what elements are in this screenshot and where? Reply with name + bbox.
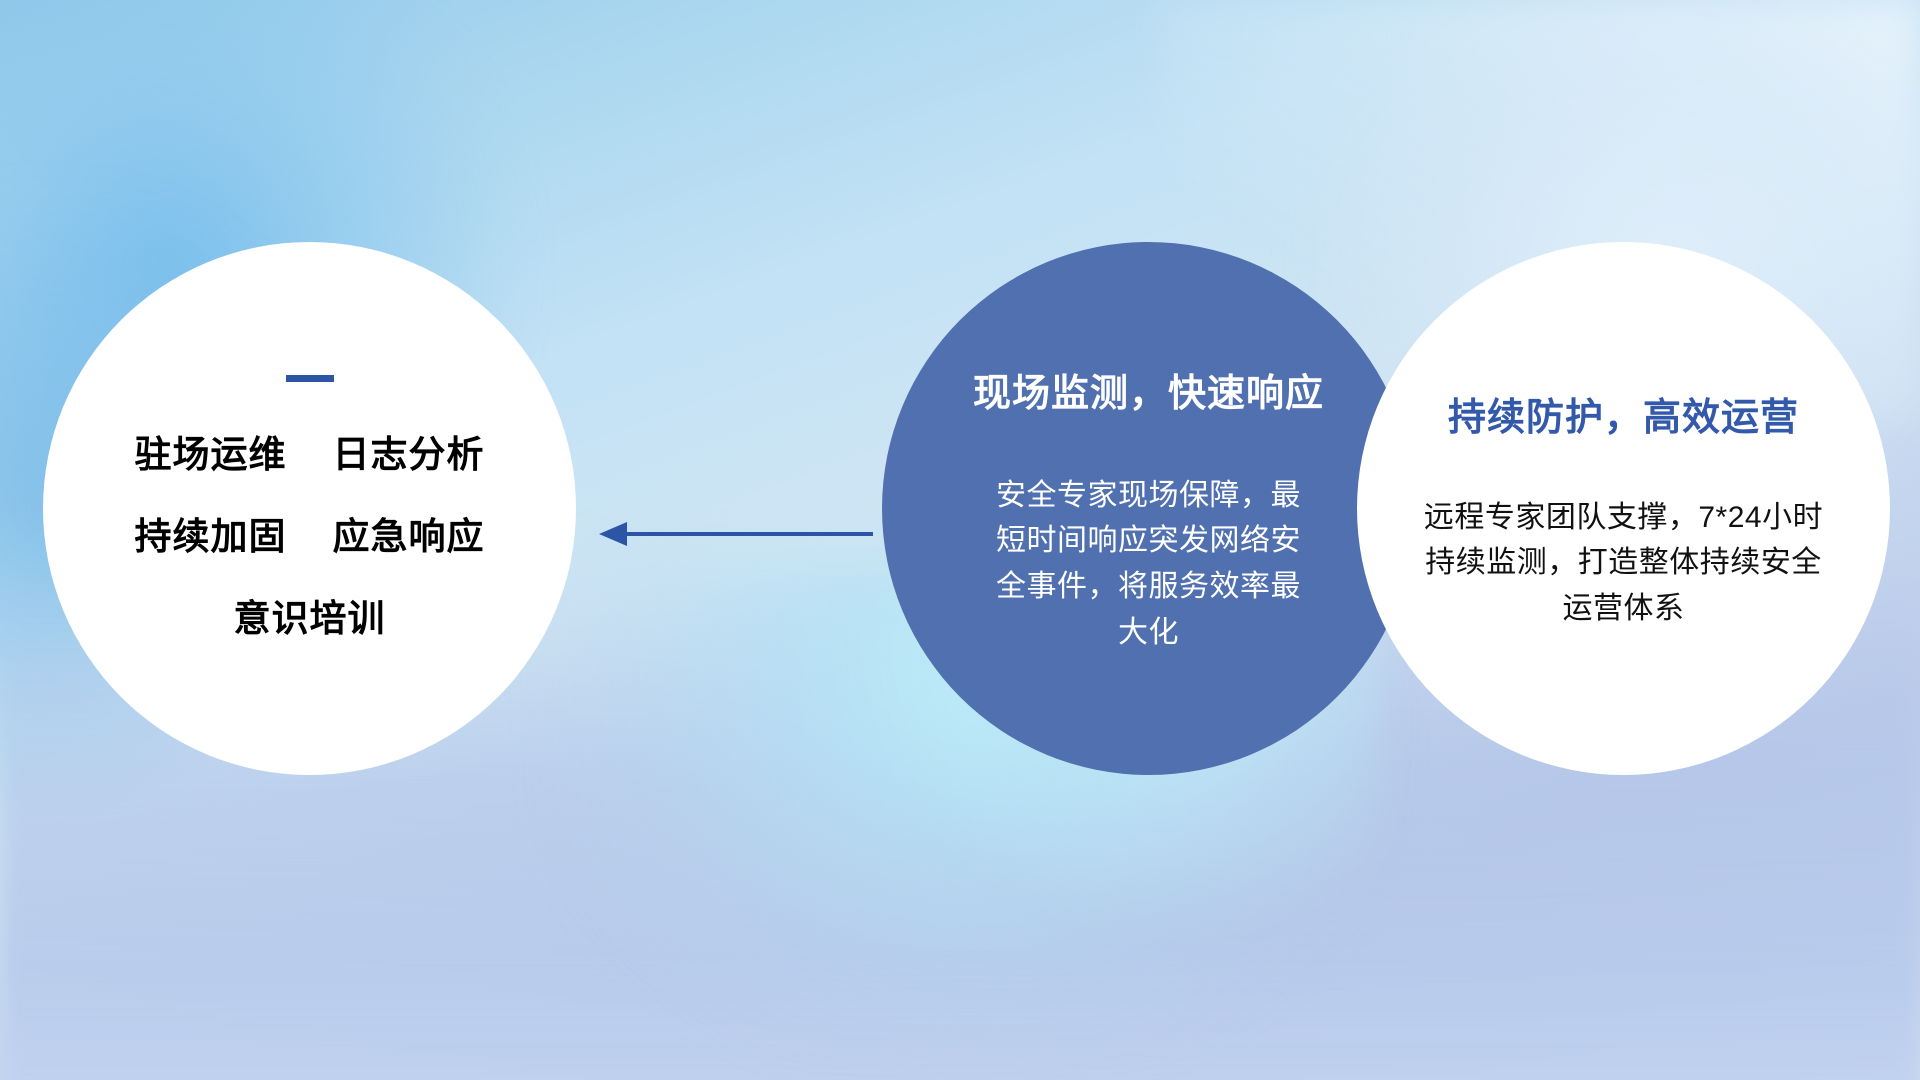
keywords-circle[interactable]: 驻场运维 日志分析 持续加固 应急响应 意识培训 [43, 242, 576, 775]
keyword-item: 应急响应 [333, 506, 485, 560]
continuous-protection-circle[interactable]: 持续防护，高效运营 远程专家团队支撑，7*24小时持续监测，打造整体持续安全运营… [1357, 242, 1890, 775]
keyword-item: 意识培训 [234, 588, 386, 642]
keyword-item: 日志分析 [333, 424, 485, 478]
onsite-monitoring-circle[interactable]: 现场监测，快速响应 安全专家现场保障，最短时间响应突发网络安全事件，将服务效率最… [882, 242, 1415, 775]
keyword-item: 持续加固 [135, 506, 287, 560]
keyword-row: 意识培训 [234, 588, 386, 642]
keyword-row: 持续加固 应急响应 [135, 506, 485, 560]
continuous-protection-title: 持续防护，高效运营 [1448, 386, 1799, 441]
keyword-row: 驻场运维 日志分析 [135, 424, 485, 478]
keyword-grid: 驻场运维 日志分析 持续加固 应急响应 意识培训 [135, 424, 485, 642]
keyword-item: 驻场运维 [135, 424, 287, 478]
continuous-protection-body: 远程专家团队支撑，7*24小时持续监测，打造整体持续安全运营体系 [1424, 495, 1824, 632]
onsite-monitoring-title: 现场监测，快速响应 [973, 362, 1324, 417]
onsite-monitoring-body: 安全专家现场保障，最短时间响应突发网络安全事件，将服务效率最大化 [984, 473, 1314, 655]
flow-arrow-left-icon [595, 512, 875, 556]
slide-canvas: 驻场运维 日志分析 持续加固 应急响应 意识培训 现场监测，快速响应 安全专家现… [0, 0, 1920, 1080]
accent-dash-icon [286, 375, 334, 382]
